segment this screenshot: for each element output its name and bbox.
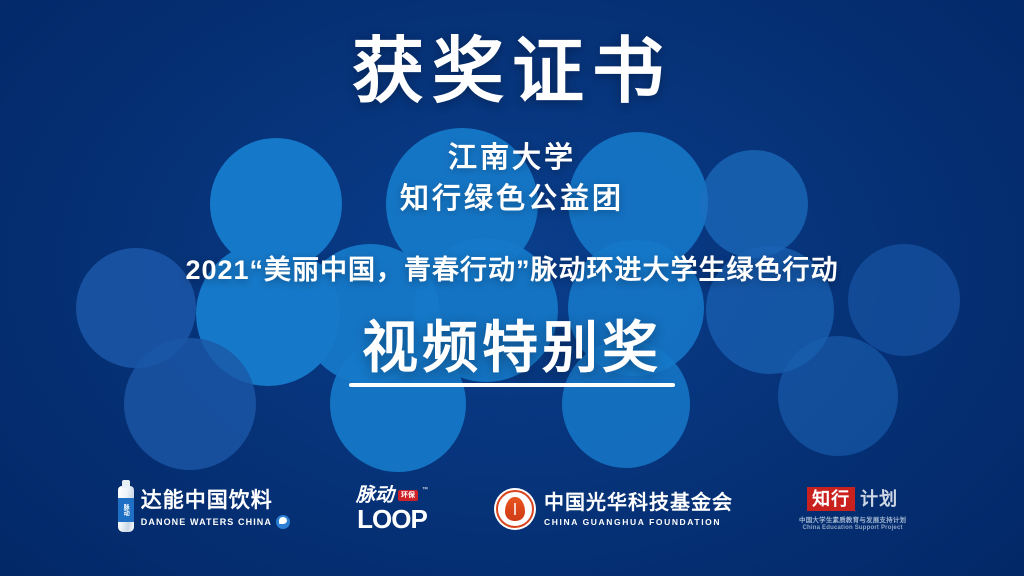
danone-name-en: DANONE WATERS CHINA [141, 517, 272, 527]
award-underline [349, 383, 675, 387]
guanghua-text-block: 中国光华科技基金会 CHINA GUANGHUA FOUNDATION [544, 492, 733, 527]
zhixing-top-row: 知行 计划 [807, 487, 898, 512]
guanghua-name-cn: 中国光华科技基金会 [544, 492, 733, 514]
zhixing-name-grey: 计划 [860, 489, 898, 510]
sponsor-logo-guanghua-foundation: 中国光华科技基金会 CHINA GUANGHUA FOUNDATION [494, 484, 733, 534]
award-name: 视频特别奖 [362, 319, 662, 378]
danone-name-cn: 达能中国饮料 [141, 489, 290, 512]
event-title: 2021“美丽中国，青春行动”脉动环进大学生绿色行动 [185, 248, 838, 287]
bottle-label-text: 脉动 [121, 504, 130, 516]
mizone-loop-wordmark: LOOP [357, 506, 427, 532]
bottle-label: 脉动 [118, 498, 134, 522]
danone-en-row: DANONE WATERS CHINA [141, 515, 290, 529]
recipient-line-1: 江南大学 [400, 138, 624, 179]
mizone-eco-badge: 环保 [398, 490, 418, 501]
award-block: 视频特别奖 [349, 319, 675, 387]
zhixing-name-red: 知行 [807, 487, 855, 512]
mizone-top-row: 脉动 环保 ™ [356, 486, 428, 505]
recipient-block: 江南大学 知行绿色公益团 [400, 138, 624, 220]
flame-icon [505, 497, 525, 521]
zhixing-subtitle-en: China Education Support Project [803, 525, 903, 531]
danone-text-block: 达能中国饮料 DANONE WATERS CHINA [141, 489, 290, 529]
guanghua-name-en: CHINA GUANGHUA FOUNDATION [544, 517, 733, 527]
sponsor-logo-zhixing-plan: 知行 计划 中国大学生素质教育与发展支持计划 China Education S… [799, 484, 906, 534]
certificate-canvas: 获奖证书 江南大学 知行绿色公益团 2021“美丽中国，青春行动”脉动环进大学生… [0, 0, 1024, 576]
sponsor-logo-mizone-loop: 脉动 环保 ™ LOOP [356, 484, 428, 534]
mizone-name-cn: 脉动 [356, 486, 394, 505]
trademark-symbol: ™ [422, 487, 428, 493]
sponsor-logo-strip: 脉动 达能中国饮料 DANONE WATERS CHINA 脉动 环保 ™ LO… [0, 484, 1024, 534]
guanghua-emblem-icon [494, 488, 536, 530]
zhixing-subtitle-cn: 中国大学生素质教育与发展支持计划 [799, 514, 906, 524]
water-bottle-icon: 脉动 [118, 486, 134, 532]
danone-droplet-icon [276, 515, 290, 529]
sponsor-logo-danone: 脉动 达能中国饮料 DANONE WATERS CHINA [118, 484, 290, 534]
page-title: 获奖证书 [352, 34, 672, 112]
recipient-line-2: 知行绿色公益团 [400, 179, 624, 220]
